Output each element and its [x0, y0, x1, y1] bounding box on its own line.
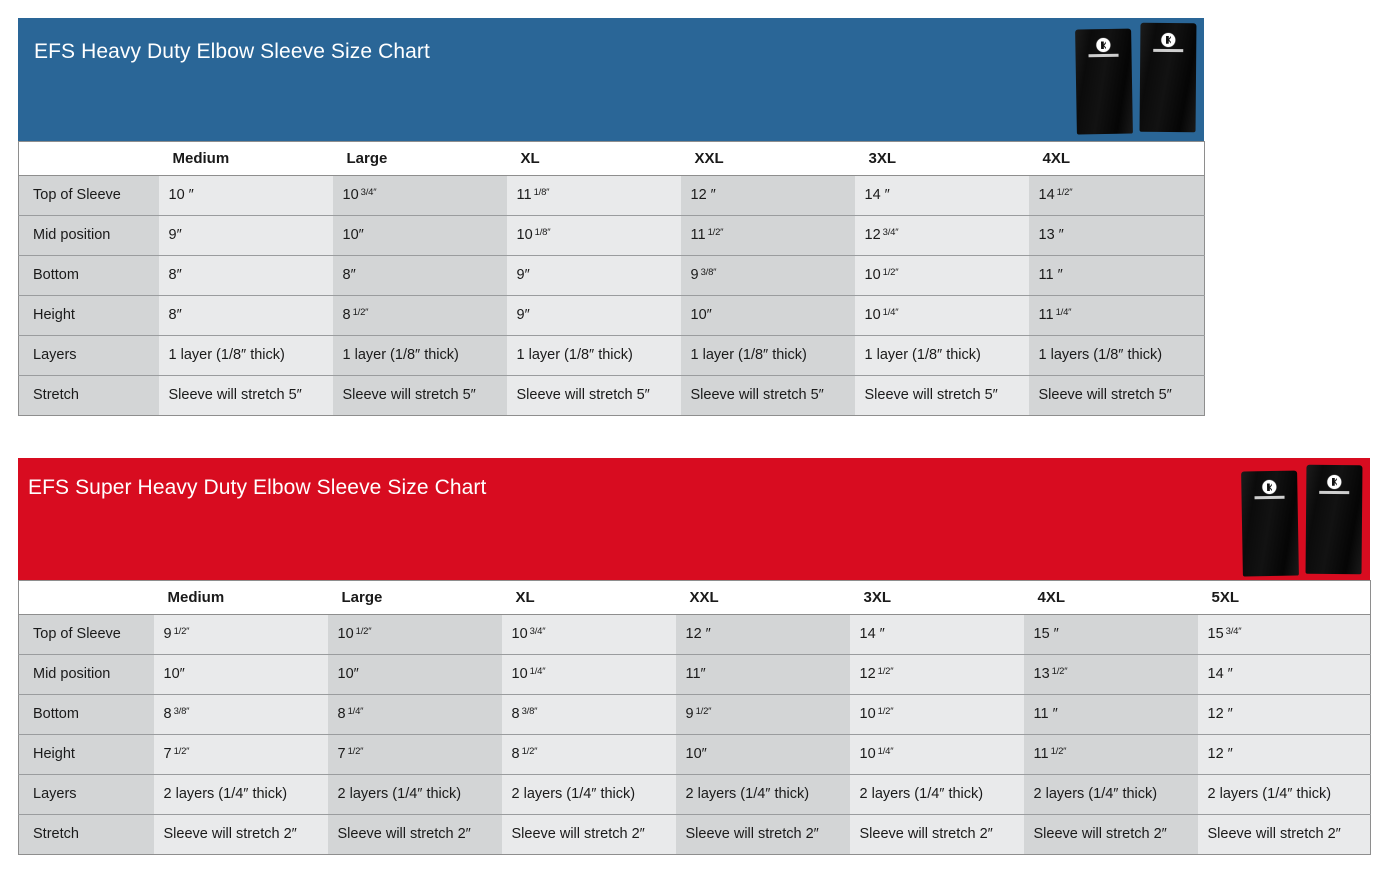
cell-mid-position-4xl: 13 ″: [1029, 216, 1205, 256]
row-label-top-of-sleeve: Top of Sleeve: [19, 615, 154, 655]
row-label-bottom: Bottom: [19, 695, 154, 735]
cell-height-large: 71/2″: [328, 735, 502, 775]
cell-layers-5xl: 2 layers (1/4″ thick): [1198, 775, 1371, 815]
cell-layers-medium: 1 layer (1/8″ thick): [159, 336, 333, 376]
sleeve-right-icon: [1305, 465, 1362, 574]
cell-mid-position-medium: 9″: [159, 216, 333, 256]
header-medium: Medium: [159, 142, 333, 176]
header-xl: XL: [502, 581, 676, 615]
cell-layers-large: 1 layer (1/8″ thick): [333, 336, 507, 376]
table-row: Top of Sleeve 10 ″ 103/4″ 111/8″ 12 ″ 14…: [19, 176, 1205, 216]
cell-top-of-sleeve-medium: 91/2″: [154, 615, 328, 655]
header-4xl: 4XL: [1029, 142, 1205, 176]
table-row: Height 8″ 81/2″ 9″ 10″ 101/4″ 111/4″: [19, 296, 1205, 336]
cell-stretch-medium: Sleeve will stretch 2″: [154, 815, 328, 855]
header-large: Large: [333, 142, 507, 176]
cell-stretch-4xl: Sleeve will stretch 2″: [1024, 815, 1198, 855]
cell-top-of-sleeve-medium: 10 ″: [159, 176, 333, 216]
row-label-stretch: Stretch: [19, 815, 154, 855]
cell-top-of-sleeve-xl: 111/8″: [507, 176, 681, 216]
header-xxl: XXL: [681, 142, 855, 176]
cell-stretch-4xl: Sleeve will stretch 5″: [1029, 376, 1205, 416]
heavy-duty-product-image: [1076, 23, 1196, 135]
cell-layers-xxl: 1 layer (1/8″ thick): [681, 336, 855, 376]
cell-mid-position-large: 10″: [328, 655, 502, 695]
cell-layers-medium: 2 layers (1/4″ thick): [154, 775, 328, 815]
brand-logo-text-icon: [1153, 49, 1183, 52]
cell-bottom-medium: 8″: [159, 256, 333, 296]
header-corner: [19, 142, 159, 176]
row-label-height: Height: [19, 735, 154, 775]
size-chart-page: EFS Heavy Duty Elbow Sleeve Size Chart: [0, 0, 1387, 873]
table-row: Layers 2 layers (1/4″ thick) 2 layers (1…: [19, 775, 1371, 815]
cell-bottom-large: 8″: [333, 256, 507, 296]
cell-bottom-xxl: 91/2″: [676, 695, 850, 735]
sleeve-right-icon: [1139, 23, 1196, 132]
sleeve-left-icon: [1075, 29, 1133, 135]
cell-height-xxl: 10″: [676, 735, 850, 775]
cell-mid-position-xxl: 111/2″: [681, 216, 855, 256]
super-heavy-duty-title: EFS Super Heavy Duty Elbow Sleeve Size C…: [28, 476, 486, 500]
header-5xl: 5XL: [1198, 581, 1371, 615]
row-label-mid-position: Mid position: [19, 655, 154, 695]
table-row: Stretch Sleeve will stretch 2″ Sleeve wi…: [19, 815, 1371, 855]
row-label-mid-position: Mid position: [19, 216, 159, 256]
cell-bottom-xl: 83/8″: [502, 695, 676, 735]
header-3xl: 3XL: [855, 142, 1029, 176]
super-heavy-duty-product-image: [1242, 465, 1362, 577]
cell-layers-4xl: 2 layers (1/4″ thick): [1024, 775, 1198, 815]
cell-bottom-4xl: 11 ″: [1029, 256, 1205, 296]
header-3xl: 3XL: [850, 581, 1024, 615]
cell-stretch-5xl: Sleeve will stretch 2″: [1198, 815, 1371, 855]
cell-stretch-large: Sleeve will stretch 5″: [333, 376, 507, 416]
super-heavy-duty-size-table: Medium Large XL XXL 3XL 4XL 5XL Top of S…: [18, 580, 1371, 855]
cell-top-of-sleeve-xxl: 12 ″: [676, 615, 850, 655]
header-corner: [19, 581, 154, 615]
cell-bottom-3xl: 101/2″: [855, 256, 1029, 296]
cell-layers-4xl: 1 layers (1/8″ thick): [1029, 336, 1205, 376]
heavy-duty-banner: EFS Heavy Duty Elbow Sleeve Size Chart: [18, 18, 1204, 141]
cell-height-4xl: 111/2″: [1024, 735, 1198, 775]
cell-mid-position-xl: 101/4″: [502, 655, 676, 695]
row-label-bottom: Bottom: [19, 256, 159, 296]
header-4xl: 4XL: [1024, 581, 1198, 615]
table-row: Stretch Sleeve will stretch 5″ Sleeve wi…: [19, 376, 1205, 416]
cell-bottom-xxl: 93/8″: [681, 256, 855, 296]
cell-height-4xl: 111/4″: [1029, 296, 1205, 336]
cell-stretch-xxl: Sleeve will stretch 5″: [681, 376, 855, 416]
heavy-duty-title: EFS Heavy Duty Elbow Sleeve Size Chart: [34, 40, 430, 64]
table-row: Bottom 8″ 8″ 9″ 93/8″ 101/2″ 11 ″: [19, 256, 1205, 296]
cell-stretch-xxl: Sleeve will stretch 2″: [676, 815, 850, 855]
cell-top-of-sleeve-4xl: 15 ″: [1024, 615, 1198, 655]
cell-mid-position-3xl: 123/4″: [855, 216, 1029, 256]
brand-logo-icon: [1161, 33, 1175, 47]
cell-layers-3xl: 1 layer (1/8″ thick): [855, 336, 1029, 376]
header-medium: Medium: [154, 581, 328, 615]
cell-height-3xl: 101/4″: [850, 735, 1024, 775]
cell-stretch-xl: Sleeve will stretch 5″: [507, 376, 681, 416]
heavy-duty-size-table: Medium Large XL XXL 3XL 4XL Top of Sleev…: [18, 141, 1205, 416]
cell-top-of-sleeve-large: 101/2″: [328, 615, 502, 655]
cell-top-of-sleeve-3xl: 14 ″: [850, 615, 1024, 655]
table-row: Height 71/2″ 71/2″ 81/2″ 10″ 101/4″ 111/…: [19, 735, 1371, 775]
cell-bottom-medium: 83/8″: [154, 695, 328, 735]
cell-height-3xl: 101/4″: [855, 296, 1029, 336]
row-label-height: Height: [19, 296, 159, 336]
table-row: Mid position 9″ 10″ 101/8″ 111/2″ 123/4″…: [19, 216, 1205, 256]
sleeve-left-icon: [1241, 471, 1299, 577]
cell-top-of-sleeve-5xl: 153/4″: [1198, 615, 1371, 655]
cell-top-of-sleeve-xl: 103/4″: [502, 615, 676, 655]
cell-layers-xxl: 2 layers (1/4″ thick): [676, 775, 850, 815]
table-header-row: Medium Large XL XXL 3XL 4XL: [19, 142, 1205, 176]
cell-layers-xl: 1 layer (1/8″ thick): [507, 336, 681, 376]
brand-logo-icon: [1262, 480, 1276, 494]
cell-mid-position-large: 10″: [333, 216, 507, 256]
brand-logo-text-icon: [1089, 54, 1119, 58]
cell-bottom-5xl: 12 ″: [1198, 695, 1371, 735]
cell-layers-xl: 2 layers (1/4″ thick): [502, 775, 676, 815]
cell-top-of-sleeve-4xl: 141/2″: [1029, 176, 1205, 216]
cell-bottom-4xl: 11 ″: [1024, 695, 1198, 735]
cell-mid-position-xl: 101/8″: [507, 216, 681, 256]
cell-height-xl: 81/2″: [502, 735, 676, 775]
cell-bottom-3xl: 101/2″: [850, 695, 1024, 735]
super-heavy-duty-banner: EFS Super Heavy Duty Elbow Sleeve Size C…: [18, 458, 1370, 581]
table-row: Mid position 10″ 10″ 101/4″ 11″ 121/2″ 1…: [19, 655, 1371, 695]
header-large: Large: [328, 581, 502, 615]
brand-logo-icon: [1096, 38, 1110, 52]
cell-height-5xl: 12 ″: [1198, 735, 1371, 775]
cell-top-of-sleeve-3xl: 14 ″: [855, 176, 1029, 216]
cell-bottom-large: 81/4″: [328, 695, 502, 735]
cell-top-of-sleeve-large: 103/4″: [333, 176, 507, 216]
row-label-stretch: Stretch: [19, 376, 159, 416]
header-xl: XL: [507, 142, 681, 176]
cell-stretch-3xl: Sleeve will stretch 2″: [850, 815, 1024, 855]
brand-logo-text-icon: [1255, 496, 1285, 500]
cell-stretch-xl: Sleeve will stretch 2″: [502, 815, 676, 855]
table-header-row: Medium Large XL XXL 3XL 4XL 5XL: [19, 581, 1371, 615]
cell-mid-position-5xl: 14 ″: [1198, 655, 1371, 695]
cell-height-xxl: 10″: [681, 296, 855, 336]
row-label-top-of-sleeve: Top of Sleeve: [19, 176, 159, 216]
cell-stretch-medium: Sleeve will stretch 5″: [159, 376, 333, 416]
cell-height-large: 81/2″: [333, 296, 507, 336]
cell-stretch-3xl: Sleeve will stretch 5″: [855, 376, 1029, 416]
row-label-layers: Layers: [19, 775, 154, 815]
cell-bottom-xl: 9″: [507, 256, 681, 296]
table-row: Bottom 83/8″ 81/4″ 83/8″ 91/2″ 101/2″ 11…: [19, 695, 1371, 735]
cell-mid-position-4xl: 131/2″: [1024, 655, 1198, 695]
table-row: Top of Sleeve 91/2″ 101/2″ 103/4″ 12 ″ 1…: [19, 615, 1371, 655]
cell-layers-3xl: 2 layers (1/4″ thick): [850, 775, 1024, 815]
row-label-layers: Layers: [19, 336, 159, 376]
cell-height-medium: 71/2″: [154, 735, 328, 775]
cell-height-xl: 9″: [507, 296, 681, 336]
cell-mid-position-medium: 10″: [154, 655, 328, 695]
cell-stretch-large: Sleeve will stretch 2″: [328, 815, 502, 855]
table-row: Layers 1 layer (1/8″ thick) 1 layer (1/8…: [19, 336, 1205, 376]
cell-height-medium: 8″: [159, 296, 333, 336]
brand-logo-text-icon: [1319, 491, 1349, 494]
cell-mid-position-3xl: 121/2″: [850, 655, 1024, 695]
cell-top-of-sleeve-xxl: 12 ″: [681, 176, 855, 216]
cell-mid-position-xxl: 11″: [676, 655, 850, 695]
brand-logo-icon: [1327, 475, 1341, 489]
header-xxl: XXL: [676, 581, 850, 615]
cell-layers-large: 2 layers (1/4″ thick): [328, 775, 502, 815]
